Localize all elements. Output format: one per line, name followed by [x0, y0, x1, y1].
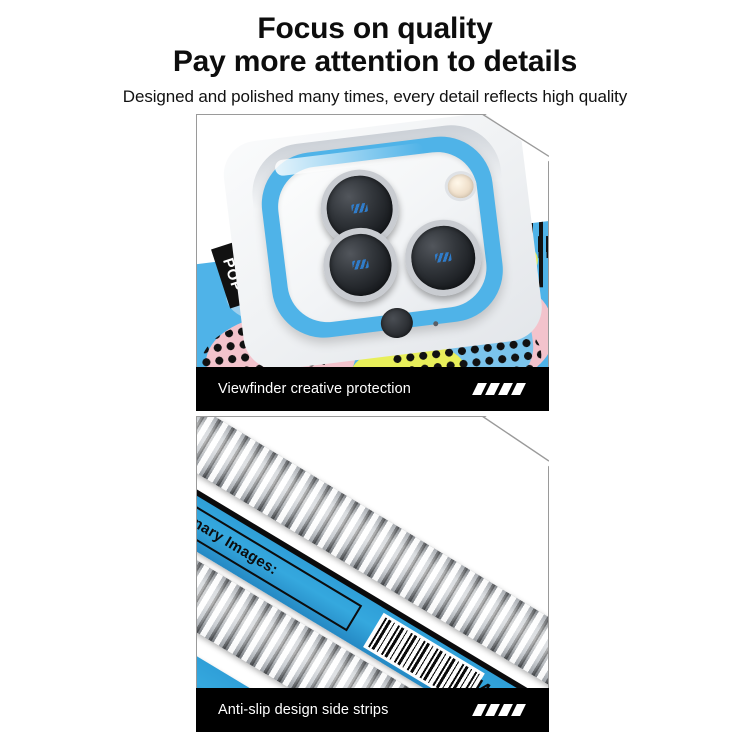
page-title-line2: Pay more attention to details	[0, 45, 750, 78]
product-detail-page: Focus on quality Pay more attention to d…	[0, 0, 750, 750]
panel-2-caption-text: Anti-slip design side strips	[218, 702, 388, 718]
camera-plateau	[274, 147, 492, 326]
camera-bezel-ring	[256, 131, 509, 344]
panel-2-slash-marks	[475, 704, 523, 716]
anti-slip-artwork: Binary Images: NSION extreme (0	[196, 416, 549, 732]
page-subtitle: Designed and polished many times, every …	[0, 78, 750, 107]
feature-panel-viewfinder: POP	[196, 114, 549, 411]
camera-lens-right	[401, 215, 486, 300]
panel-1-caption-bar: Viewfinder creative protection	[196, 367, 549, 411]
phone-camera-assembly	[220, 114, 548, 393]
slash-mark	[511, 383, 526, 395]
panel-2-clip: Binary Images: NSION extreme (0	[196, 416, 549, 732]
slash-mark	[511, 704, 526, 716]
panel-1-slash-marks	[475, 383, 523, 395]
feature-panel-anti-slip: Binary Images: NSION extreme (0	[196, 416, 549, 732]
camera-flash-icon	[443, 169, 478, 203]
panel-1-caption-text: Viewfinder creative protection	[218, 381, 411, 397]
page-title-line1: Focus on quality	[0, 0, 750, 45]
panel-2-caption-bar: Anti-slip design side strips	[196, 688, 549, 732]
page-header: Focus on quality Pay more attention to d…	[0, 0, 750, 107]
